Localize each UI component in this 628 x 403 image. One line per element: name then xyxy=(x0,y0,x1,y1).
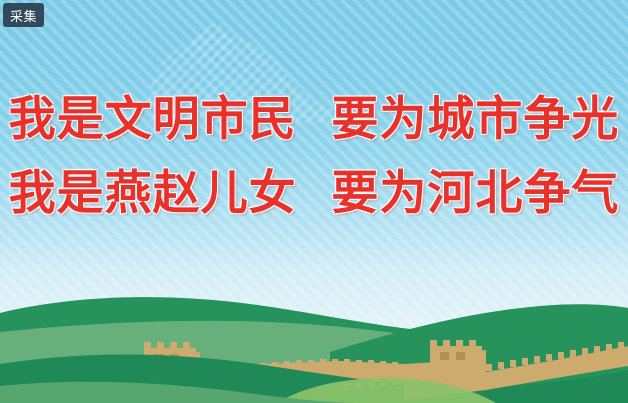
slogan-line-2: 我是燕赵儿女 要为河北争气 xyxy=(0,170,628,217)
capture-button[interactable]: 采集 xyxy=(3,3,44,27)
landscape-illustration xyxy=(0,290,628,403)
slogan-block: 我是文明市民 要为城市争光 我是燕赵儿女 要为河北争气 xyxy=(0,96,628,217)
slogan-line-1: 我是文明市民 要为城市争光 xyxy=(0,96,628,143)
banner-screenshot: 我是文明市民 要为城市争光 我是燕赵儿女 要为河北争气 xyxy=(0,0,628,403)
